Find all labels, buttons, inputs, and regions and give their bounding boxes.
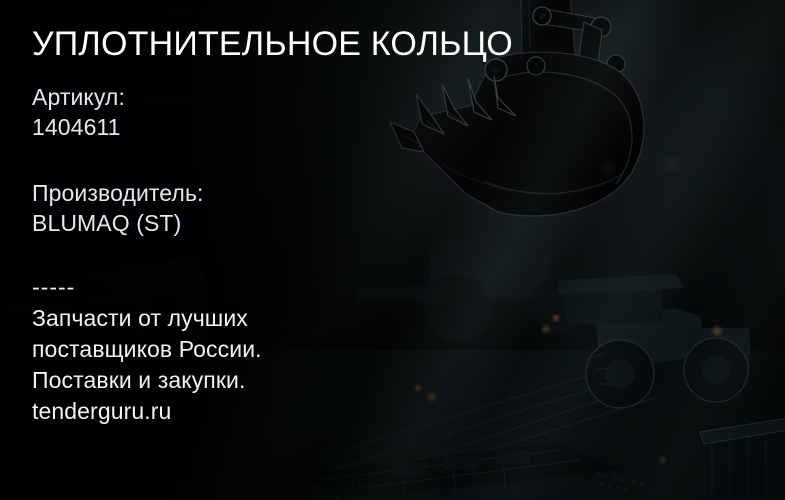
divider: -----	[32, 272, 75, 302]
article-field: Артикул: 1404611	[32, 82, 125, 142]
product-banner: УПЛОТНИТЕЛЬНОЕ КОЛЬЦО Артикул: 1404611 П…	[0, 0, 785, 500]
article-label: Артикул:	[32, 82, 125, 112]
tagline-line-2: поставщиков России.	[32, 334, 262, 365]
site-url[interactable]: tenderguru.ru	[32, 396, 262, 427]
banner-content: УПЛОТНИТЕЛЬНОЕ КОЛЬЦО Артикул: 1404611 П…	[32, 0, 552, 500]
manufacturer-value: BLUMAQ (ST)	[32, 208, 204, 238]
manufacturer-field: Производитель: BLUMAQ (ST)	[32, 178, 204, 238]
manufacturer-label: Производитель:	[32, 178, 204, 208]
tagline-line-1: Запчасти от лучших	[32, 303, 262, 334]
tagline-line-3: Поставки и закупки.	[32, 365, 262, 396]
article-value: 1404611	[32, 112, 125, 142]
page-title: УПЛОТНИТЕЛЬНОЕ КОЛЬЦО	[32, 24, 513, 64]
tagline-block: Запчасти от лучших поставщиков России. П…	[32, 303, 262, 427]
